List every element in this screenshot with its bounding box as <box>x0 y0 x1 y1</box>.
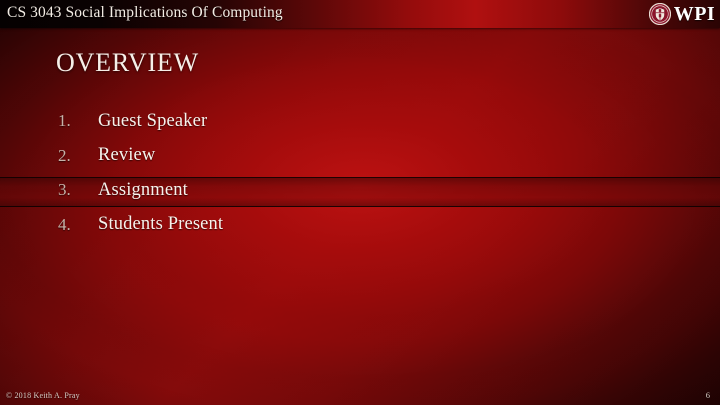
list-item[interactable]: 2. Review <box>58 139 618 174</box>
overview-list: 1. Guest Speaker 2. Review 3. Assignment… <box>58 104 618 242</box>
slide-title: OVERVIEW <box>56 46 199 80</box>
list-item-number: 1. <box>58 111 98 131</box>
list-item-label: Guest Speaker <box>98 111 207 132</box>
list-item-highlighted[interactable]: 3. Assignment <box>58 173 618 208</box>
list-item[interactable]: 4. Students Present <box>58 208 618 243</box>
course-title: CS 3043 Social Implications Of Computing <box>7 2 283 24</box>
list-item-label: Assignment <box>98 180 188 201</box>
footer-copyright: © 2018 Keith A. Pray <box>6 390 80 401</box>
footer-page-number: 6 <box>706 390 710 401</box>
list-item-number: 4. <box>58 215 98 235</box>
list-item[interactable]: 1. Guest Speaker <box>58 104 618 139</box>
slide-header-bar: CS 3043 Social Implications Of Computing… <box>0 0 720 28</box>
list-item-number: 3. <box>58 180 98 200</box>
list-item-label: Review <box>98 145 155 166</box>
list-item-number: 2. <box>58 146 98 166</box>
wpi-logo: WPI <box>649 1 715 26</box>
wpi-seal-icon <box>649 3 671 25</box>
presentation-slide: CS 3043 Social Implications Of Computing… <box>0 0 720 405</box>
list-item-label: Students Present <box>98 214 223 235</box>
wpi-wordmark: WPI <box>674 3 715 25</box>
